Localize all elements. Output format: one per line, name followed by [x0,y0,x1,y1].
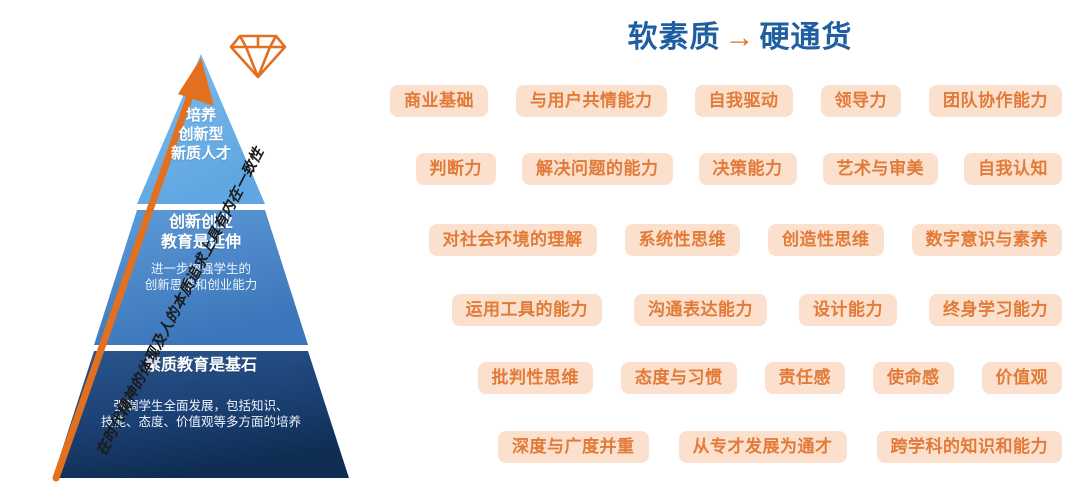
skill-tag[interactable]: 从专才发展为通才 [679,431,847,464]
skill-tag[interactable]: 商业基础 [390,85,488,118]
title-right-text: 硬通货 [760,21,853,54]
infographic-canvas: 软素质→硬通货 [0,0,1080,497]
diamond-icon [223,30,293,82]
skill-tag[interactable]: 批判性思维 [478,362,594,395]
skill-tag[interactable]: 对社会环境的理解 [429,224,597,257]
skill-tag[interactable]: 领导力 [821,85,902,118]
skill-tag[interactable]: 设计能力 [799,294,897,327]
skill-tag[interactable]: 深度与广度并重 [498,431,649,464]
title-left-text: 软素质 [628,21,721,54]
skill-tag[interactable]: 数字意识与素养 [912,224,1063,257]
right-arrow-icon: → [721,21,760,54]
skill-tag[interactable]: 终身学习能力 [929,294,1062,327]
skill-tag[interactable]: 决策能力 [699,153,797,186]
skill-tag-grid: 商业基础 与用户共情能力 自我驱动 领导力 团队协作能力 判断力 解决问题的能力… [290,80,1080,490]
skill-tag[interactable]: 使命感 [873,362,954,395]
skill-tag[interactable]: 沟通表达能力 [634,294,767,327]
skill-tag-row: 判断力 解决问题的能力 决策能力 艺术与审美 自我认知 [290,148,1080,190]
skill-tag[interactable]: 价值观 [982,362,1063,395]
skill-tag[interactable]: 与用户共情能力 [516,85,667,118]
skill-tag[interactable]: 解决问题的能力 [522,153,673,186]
skill-tag[interactable]: 系统性思维 [625,224,741,257]
skill-tag[interactable]: 态度与习惯 [621,362,737,395]
skill-tag-row: 对社会环境的理解 系统性思维 创造性思维 数字意识与素养 [290,219,1080,261]
skill-tag[interactable]: 责任感 [765,362,846,395]
skill-tag[interactable]: 运用工具的能力 [452,294,603,327]
skill-tag-row: 深度与广度并重 从专才发展为通才 跨学科的知识和能力 [290,426,1080,468]
skill-tag[interactable]: 自我驱动 [695,85,793,118]
skill-tag[interactable]: 艺术与审美 [823,153,939,186]
skill-tag[interactable]: 判断力 [416,153,497,186]
page-title: 软素质→硬通货 [530,12,950,56]
skill-tag[interactable]: 自我认知 [964,153,1062,186]
skill-tag[interactable]: 跨学科的知识和能力 [877,431,1063,464]
skill-tag-row: 商业基础 与用户共情能力 自我驱动 领导力 团队协作能力 [290,80,1080,122]
skill-tag-row: 运用工具的能力 沟通表达能力 设计能力 终身学习能力 [290,289,1080,331]
skill-tag-row: 批判性思维 态度与习惯 责任感 使命感 价值观 [290,357,1080,399]
skill-tag[interactable]: 创造性思维 [768,224,884,257]
skill-tag[interactable]: 团队协作能力 [929,85,1062,118]
